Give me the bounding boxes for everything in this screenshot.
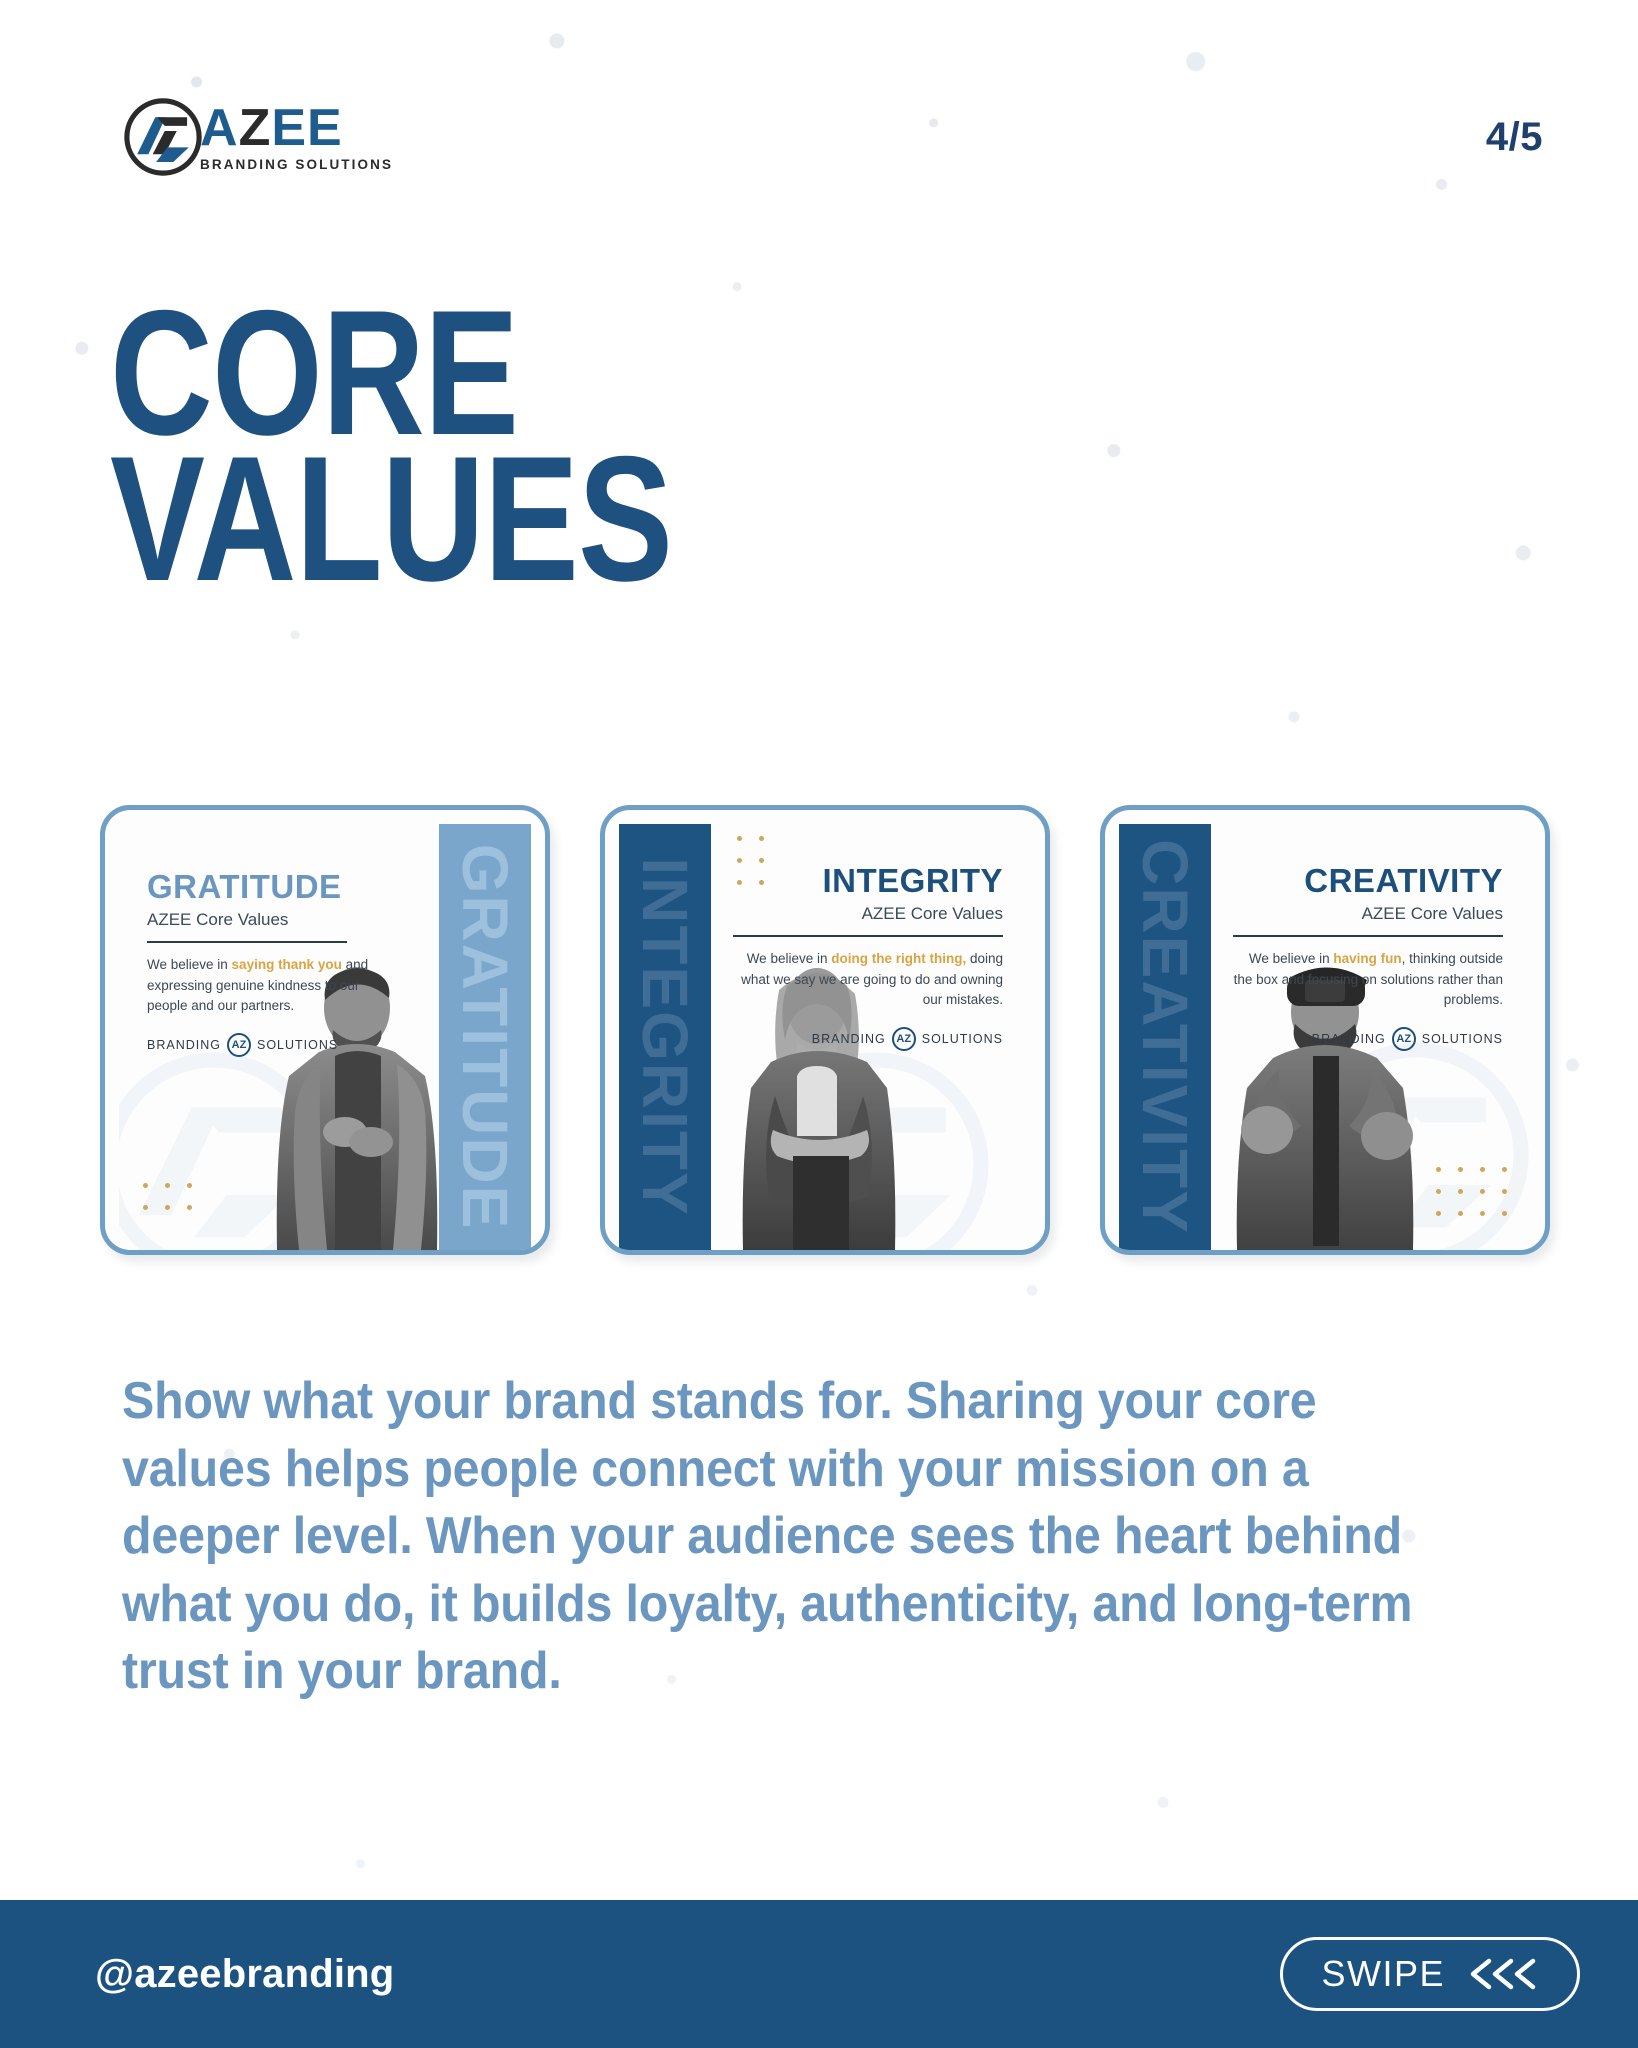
dot-grid-decoration — [143, 1183, 192, 1210]
card-text-creativity: CREATIVITY AZEE Core Values We believe i… — [1233, 864, 1503, 1051]
card-footer-left: BRANDING — [812, 1032, 886, 1046]
azee-circle-monogram-icon — [120, 94, 206, 180]
card-text-gratitude: GRATITUDE AZEE Core Values We believe in… — [147, 870, 397, 1057]
card-footer-right: SOLUTIONS — [922, 1032, 1003, 1046]
card-title-gratitude: GRATITUDE — [147, 870, 397, 903]
az-mark-icon: AZ — [227, 1033, 251, 1057]
card-subtitle-creativity: AZEE Core Values — [1233, 904, 1503, 924]
band-word-creativity: CREATIVITY — [1128, 839, 1202, 1235]
title-line-2: VALUES — [110, 446, 672, 592]
card-subtitle-integrity: AZEE Core Values — [733, 904, 1003, 924]
card-text-integrity: INTEGRITY AZEE Core Values We believe in… — [733, 864, 1003, 1051]
card-footer-left: BRANDING — [1312, 1032, 1386, 1046]
value-card-integrity[interactable]: INTEGRITY — [600, 805, 1050, 1255]
logo-letter-z: Z — [239, 99, 272, 157]
az-mark-icon: AZ — [1392, 1027, 1416, 1051]
logo-tagline: BRANDING SOLUTIONS — [200, 158, 393, 172]
page-header: AZEE BRANDING SOLUTIONS 4/5 — [0, 92, 1638, 182]
value-card-creativity[interactable]: CREATIVITY — [1100, 805, 1550, 1255]
slide-page: AZEE BRANDING SOLUTIONS 4/5 CORE VALUES … — [0, 0, 1638, 2048]
card-title-integrity: INTEGRITY — [733, 864, 1003, 897]
card-subtitle-gratitude: AZEE Core Values — [147, 910, 397, 930]
card-divider — [147, 941, 347, 943]
logo-letter-a: A — [200, 99, 239, 157]
card-body-creativity: We believe in having fun, thinking outsi… — [1233, 949, 1503, 1011]
value-card-gratitude[interactable]: GRATITUDE — [100, 805, 550, 1255]
card-body-gratitude: We believe in saying thank you and expre… — [147, 955, 397, 1017]
azee-logo-text: AZEE BRANDING SOLUTIONS — [200, 102, 393, 172]
card-footer-integrity: BRANDING AZ SOLUTIONS — [733, 1027, 1003, 1051]
page-number: 4/5 — [1486, 115, 1543, 160]
az-mark-icon: AZ — [892, 1027, 916, 1051]
triple-chevron-left-icon — [1465, 1954, 1539, 1994]
band-integrity: INTEGRITY — [619, 824, 711, 1250]
page-footer: @azeebranding SWIPE — [0, 1900, 1638, 2048]
card-footer-creativity: BRANDING AZ SOLUTIONS — [1233, 1027, 1503, 1051]
card-footer-right: SOLUTIONS — [1422, 1032, 1503, 1046]
page-title: CORE VALUES — [110, 300, 672, 592]
card-body-highlight: doing the right thing, — [831, 951, 966, 966]
swipe-label: SWIPE — [1321, 1953, 1445, 1995]
card-title-creativity: CREATIVITY — [1233, 864, 1503, 897]
azee-logo: AZEE BRANDING SOLUTIONS — [120, 94, 393, 180]
swipe-button[interactable]: SWIPE — [1280, 1937, 1580, 2011]
card-body-pre: We believe in — [747, 951, 832, 966]
card-body-highlight: having fun — [1333, 951, 1401, 966]
card-body-pre: We believe in — [147, 957, 232, 972]
card-body-highlight: saying thank you — [232, 957, 342, 972]
description-paragraph: Show what your brand stands for. Sharing… — [122, 1368, 1424, 1706]
card-footer-left: BRANDING — [147, 1038, 221, 1052]
logo-letters-ee: EE — [271, 99, 342, 157]
card-divider — [1233, 935, 1503, 937]
social-handle: @azeebranding — [95, 1952, 394, 1997]
band-creativity: CREATIVITY — [1119, 824, 1211, 1250]
band-word-integrity: INTEGRITY — [628, 857, 702, 1216]
card-footer-right: SOLUTIONS — [257, 1038, 338, 1052]
card-body-pre: We believe in — [1249, 951, 1334, 966]
core-values-card-row: GRATITUDE — [100, 805, 1552, 1255]
card-body-integrity: We believe in doing the right thing, doi… — [733, 949, 1003, 1011]
card-footer-gratitude: BRANDING AZ SOLUTIONS — [147, 1033, 397, 1057]
card-divider — [733, 935, 1003, 937]
